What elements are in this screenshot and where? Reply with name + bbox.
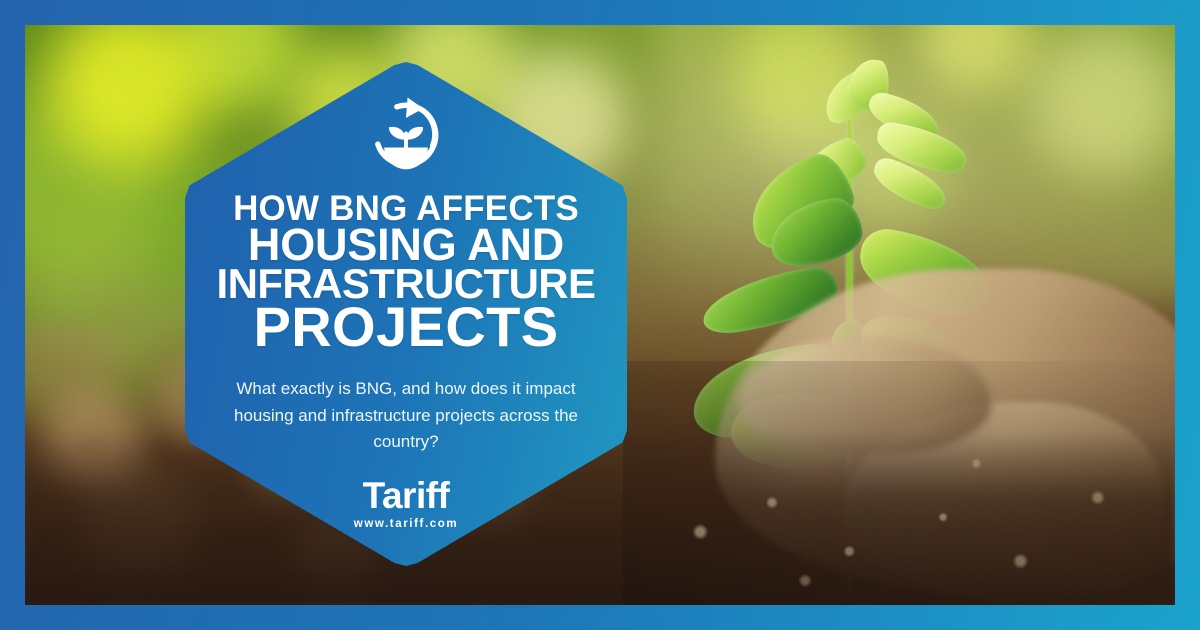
banner-title: HOW BNG AFFECTS HOUSING AND INFRASTRUCTU…	[206, 192, 606, 354]
soil-grain-texture	[623, 361, 1175, 605]
banner-subtitle: What exactly is BNG, and how does it imp…	[231, 376, 581, 455]
social-banner: HOW BNG AFFECTS HOUSING AND INFRASTRUCTU…	[0, 0, 1200, 630]
title-line-4: PROJECTS	[206, 300, 606, 355]
recycle-sprout-icon	[367, 96, 445, 174]
